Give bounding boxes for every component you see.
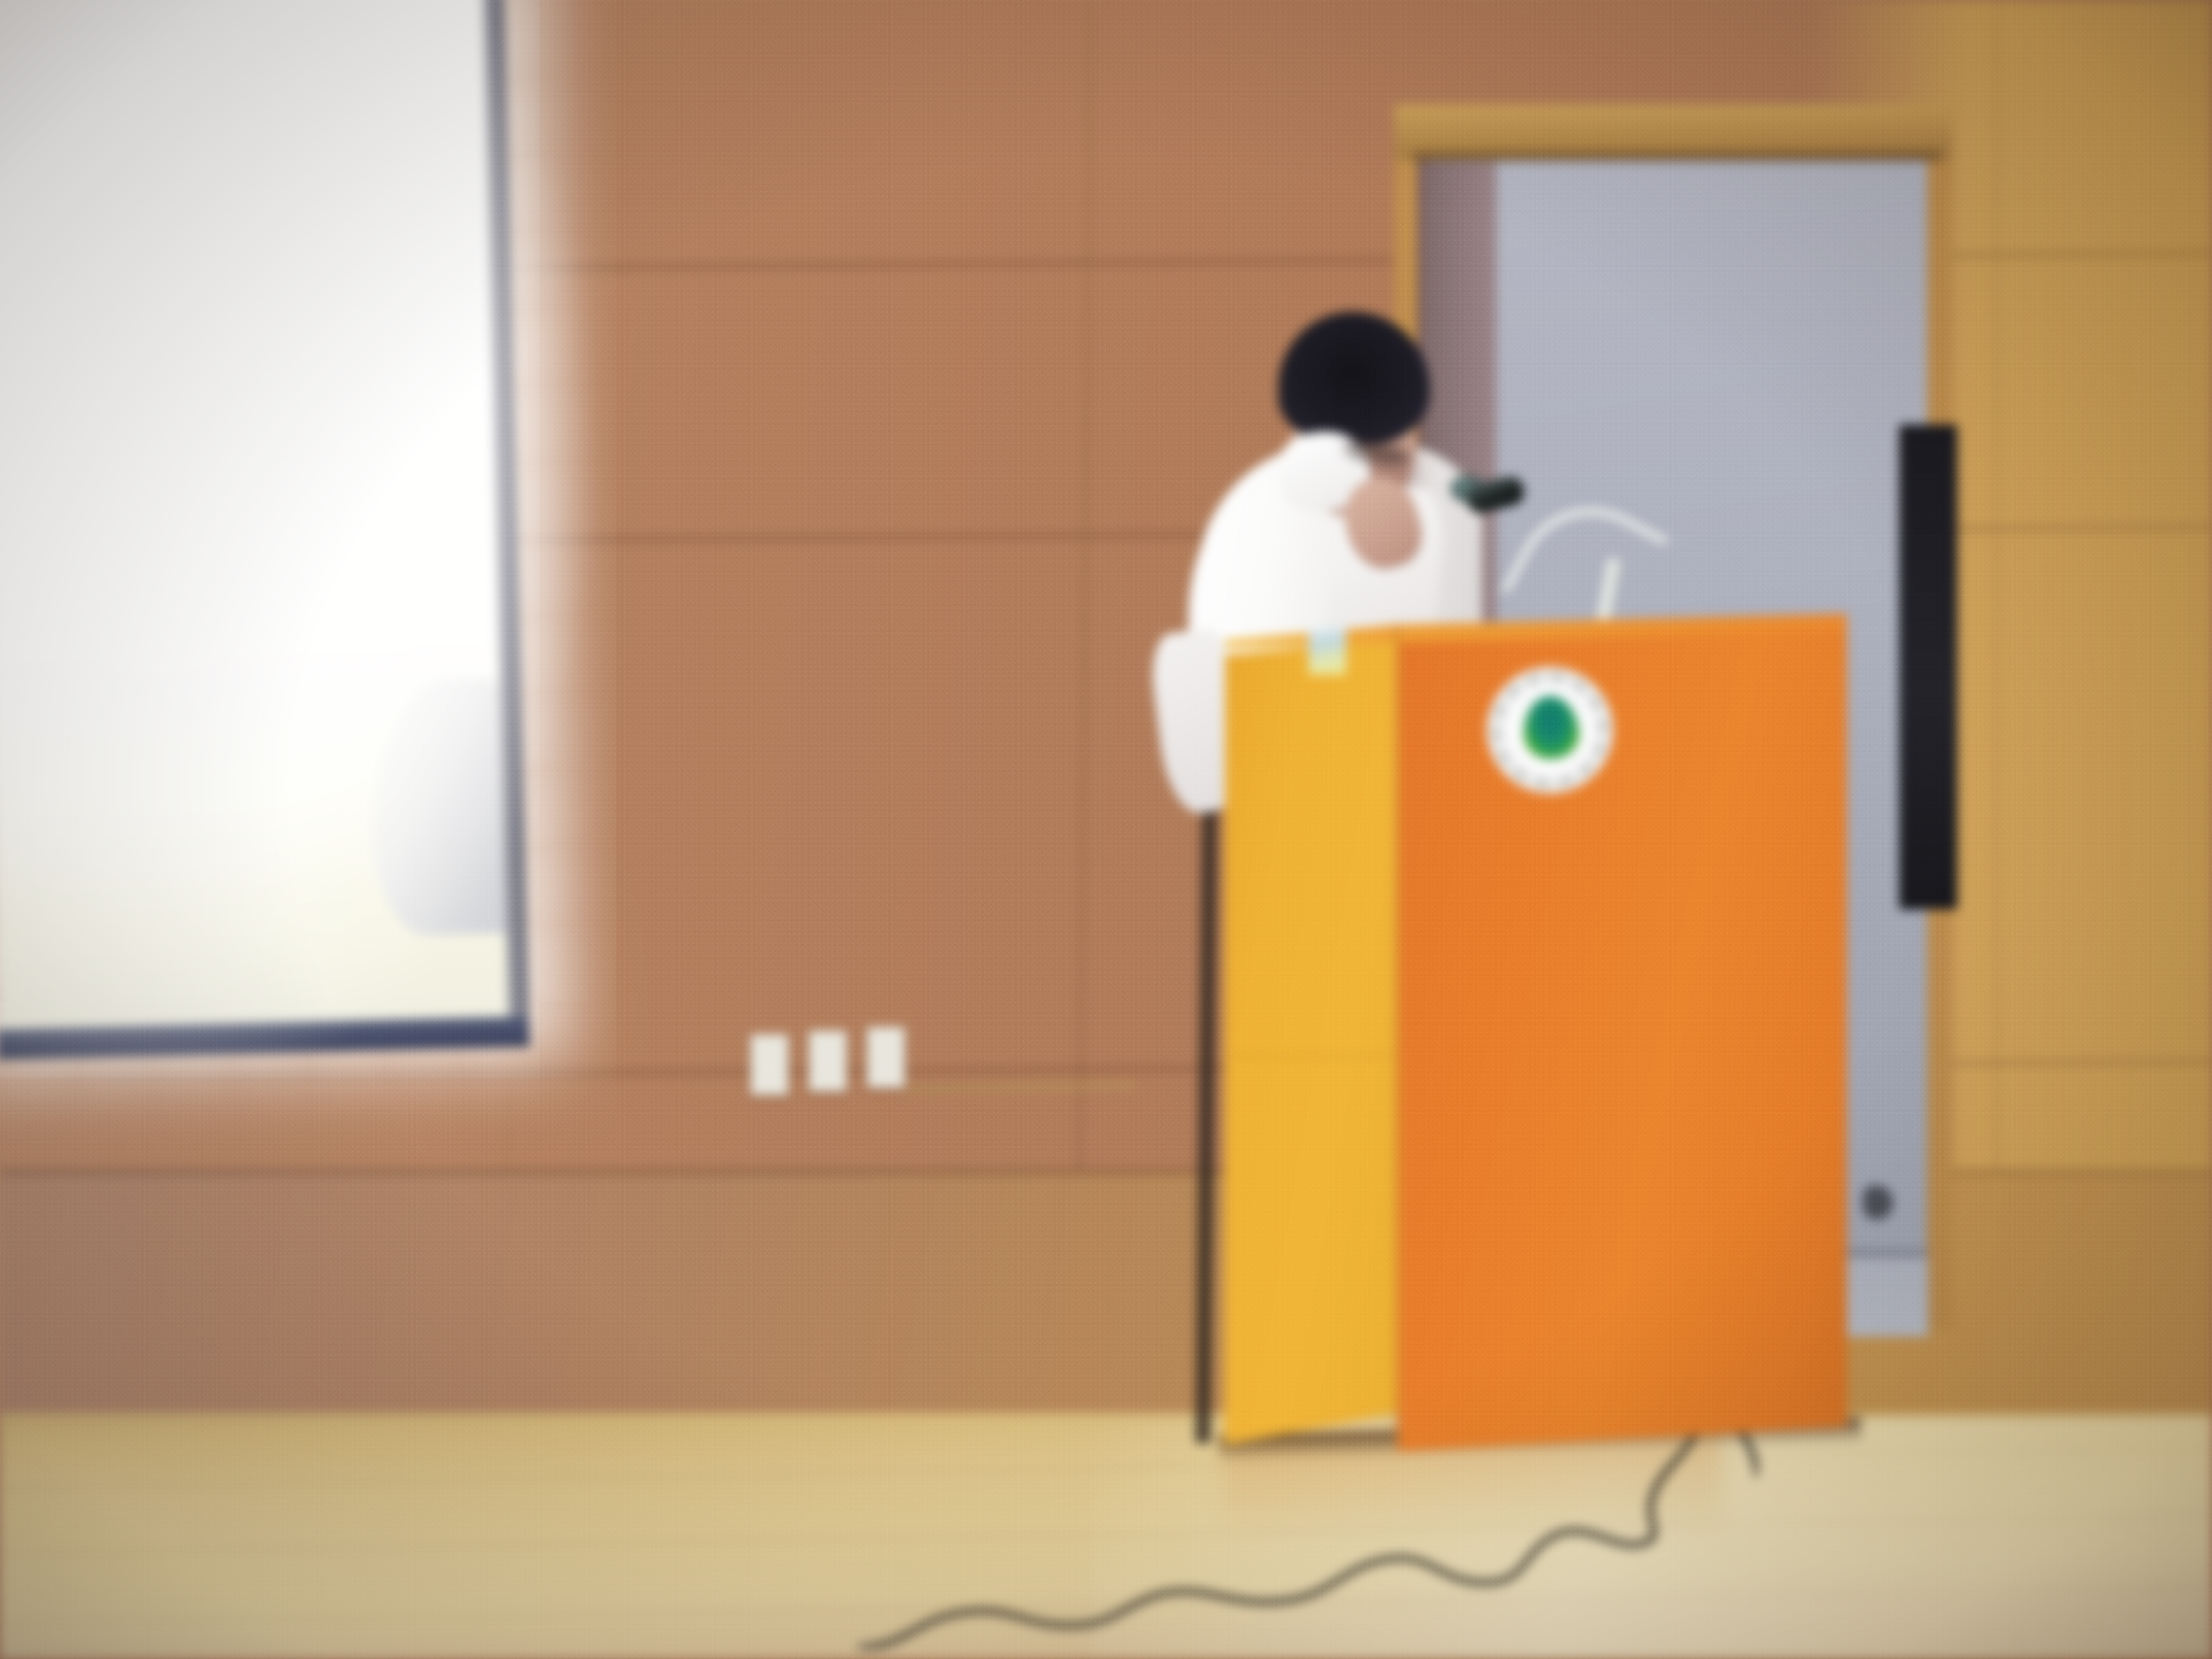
projection-screen [0, 0, 549, 1091]
wall-speaker-column [1899, 424, 1957, 910]
door-knob-icon[interactable] [1863, 1185, 1893, 1219]
wall-outlet-plate[interactable] [751, 1034, 788, 1095]
podium-sticker [1309, 628, 1346, 675]
podium-side-seam [1230, 1055, 1395, 1057]
wall-outlet-plate[interactable] [867, 1027, 905, 1088]
blur-layer [0, 0, 2212, 1659]
podium-front-face [1398, 620, 1847, 1452]
wall-outlet-plate[interactable] [809, 1031, 846, 1091]
podium-side-face [1225, 638, 1401, 1444]
speaker-hair [1278, 312, 1430, 445]
photograph-scene: Conference speaker at orange podium Wood… [0, 0, 2212, 1659]
door-top-shadow [1413, 152, 1940, 166]
podium-corner-edge [1395, 625, 1401, 1447]
